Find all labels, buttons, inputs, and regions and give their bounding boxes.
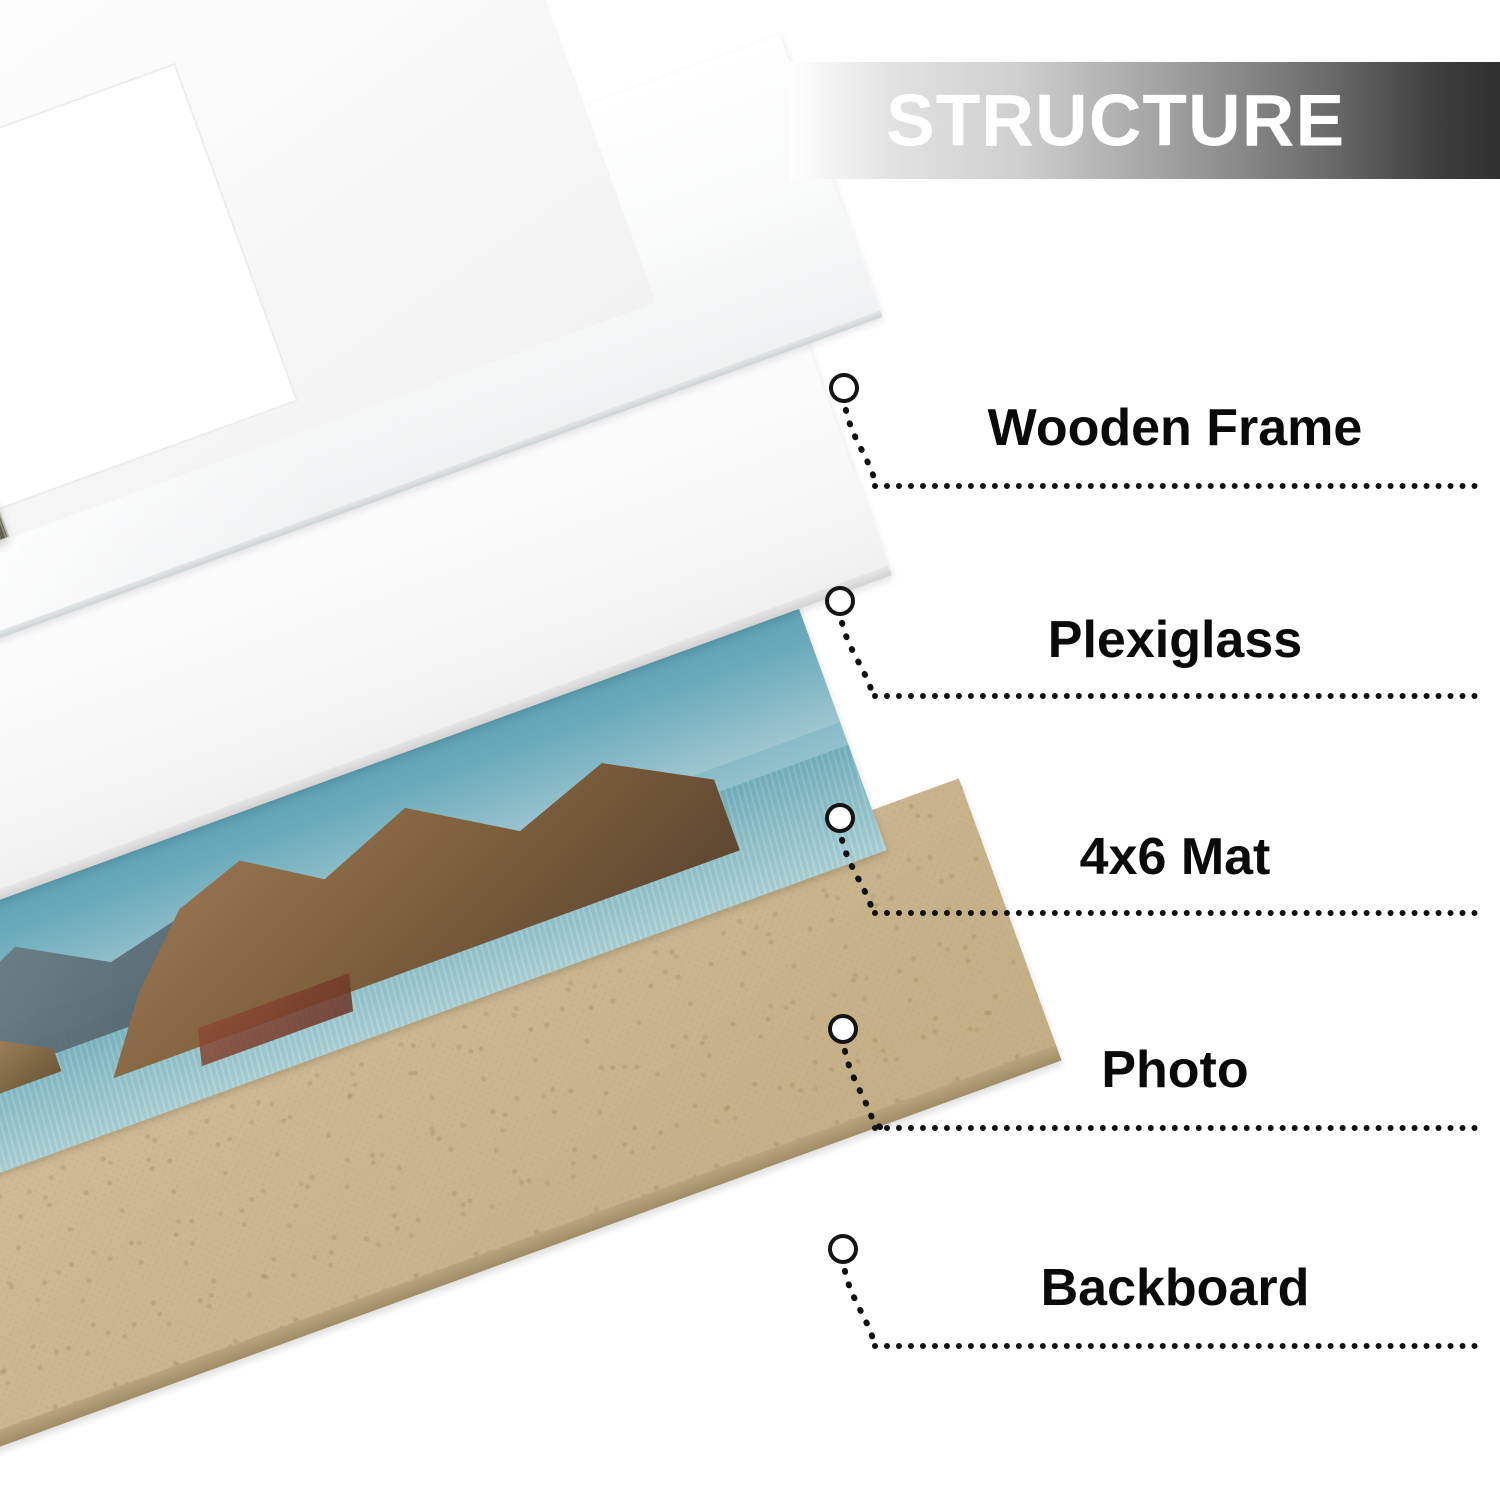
callout-dot-backboard[interactable] xyxy=(828,1234,858,1264)
banner-title: STRUCTURE xyxy=(886,84,1345,157)
callout-rule-photo xyxy=(872,1125,1478,1131)
structure-diagram-canvas: STRUCTURE Wooden Frame Plexiglass 4x6 Ma… xyxy=(0,0,1500,1500)
callout-label-photo: Photo xyxy=(872,1044,1478,1096)
callout-label-plexiglass: Plexiglass xyxy=(872,614,1478,666)
structure-banner: STRUCTURE xyxy=(790,62,1500,179)
callout-label-wooden-frame: Wooden Frame xyxy=(872,402,1478,454)
callout-rule-mat xyxy=(872,910,1478,916)
callout-dot-mat[interactable] xyxy=(825,803,855,833)
frame-rail-left xyxy=(0,0,7,589)
callout-label-mat: 4x6 Mat xyxy=(872,831,1478,883)
callout-rule-wooden-frame xyxy=(872,483,1478,489)
callout-dot-photo[interactable] xyxy=(828,1014,858,1044)
callout-label-backboard: Backboard xyxy=(872,1262,1478,1314)
callout-dot-plexiglass[interactable] xyxy=(825,586,855,616)
callout-rule-plexiglass xyxy=(872,693,1478,699)
frame-inner-bevel-left xyxy=(0,0,9,541)
callout-rule-backboard xyxy=(872,1343,1478,1349)
callout-dot-wooden-frame[interactable] xyxy=(829,373,859,403)
